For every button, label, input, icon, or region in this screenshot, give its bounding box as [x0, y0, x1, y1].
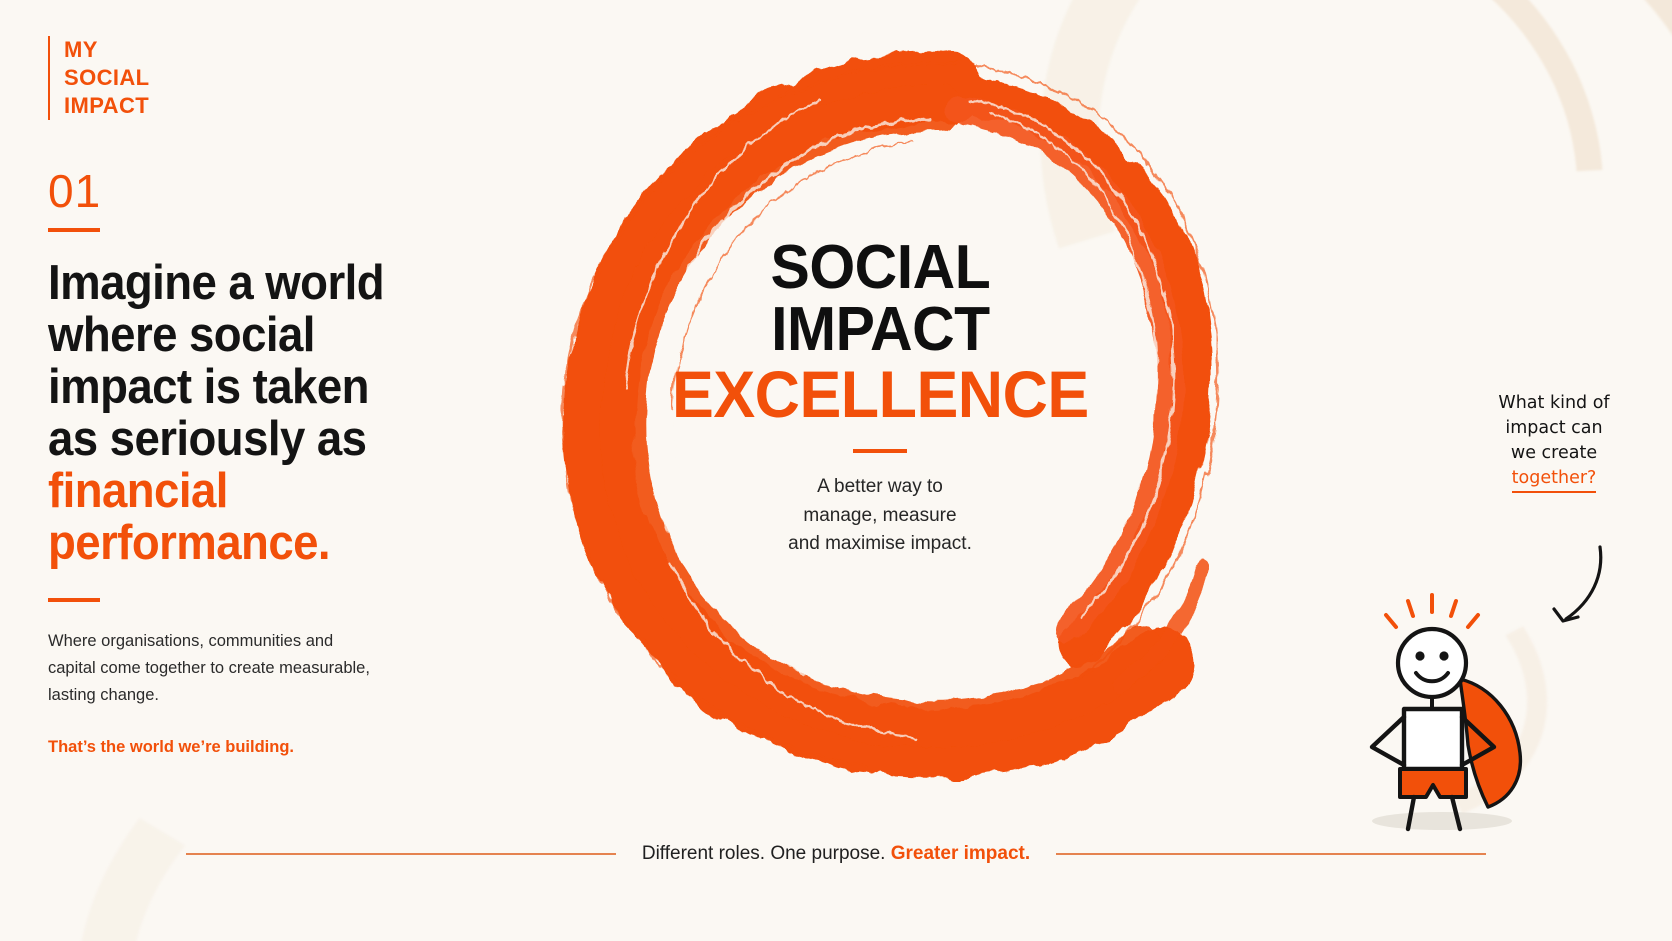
circle-subtitle-line-3: and maximise impact. [788, 530, 972, 559]
divider-under-step-number [48, 228, 100, 232]
footer-divider-right [1056, 853, 1486, 855]
superhero-stick-figure-icon [1320, 583, 1560, 833]
brush-circle-graphic: SOCIAL IMPACT EXCELLENCE A better way to… [520, 22, 1240, 782]
note-line-3: we create [1464, 441, 1644, 466]
footer-bar: Different roles. One purpose. Greater im… [0, 843, 1672, 865]
figure-torso [1404, 709, 1462, 769]
footer-tagline-plain: Different roles. One purpose. [642, 843, 886, 864]
headline-line-4: as seriously as [48, 414, 420, 466]
figure-shorts [1400, 769, 1466, 797]
divider-under-circle-title [853, 449, 907, 453]
note-accent-together: together? [1512, 466, 1597, 494]
handwritten-question-note: What kind of impact can we create togeth… [1464, 391, 1644, 493]
brand-accent-bar [48, 36, 50, 120]
left-content-column: MY SOCIAL IMPACT 01 Imagine a world wher… [48, 36, 448, 757]
body-paragraph: Where organisations, communities and cap… [48, 628, 378, 708]
step-number: 01 [48, 168, 448, 214]
footer-tagline: Different roles. One purpose. Greater im… [642, 843, 1030, 865]
brand-line-1: MY [64, 36, 150, 64]
idea-spark-lines [1386, 595, 1478, 627]
circle-subtitle-line-2: manage, measure [788, 502, 972, 531]
figure-head [1398, 629, 1466, 697]
circle-subtitle: A better way to manage, measure and maxi… [788, 473, 972, 560]
note-line-2: impact can [1464, 416, 1644, 441]
figure-arm-left [1372, 717, 1404, 765]
hero-character-block: What kind of impact can we create togeth… [1320, 503, 1650, 833]
brand-line-2: SOCIAL [64, 64, 150, 92]
headline-line-3: impact is taken [48, 362, 420, 414]
circle-subtitle-line-1: A better way to [788, 473, 972, 502]
circle-title-line-2: IMPACT [672, 299, 1089, 361]
headline-line-1: Imagine a world [48, 258, 420, 310]
circle-title: SOCIAL IMPACT EXCELLENCE [672, 237, 1089, 427]
headline-accent-line-2: performance. [48, 518, 420, 570]
figure-eye-left [1415, 651, 1424, 660]
figure-shadow [1372, 812, 1512, 830]
brand-line-3: IMPACT [64, 92, 150, 120]
brand-logo: MY SOCIAL IMPACT [48, 36, 448, 120]
circle-text-block: SOCIAL IMPACT EXCELLENCE A better way to… [520, 22, 1240, 782]
headline-accent-line-1: financial [48, 466, 420, 518]
footer-tagline-highlight: Greater impact. [891, 843, 1030, 864]
page-title: Imagine a world where social impact is t… [48, 258, 420, 570]
circle-title-line-1: SOCIAL [672, 237, 1089, 299]
note-line-1: What kind of [1464, 391, 1644, 416]
figure-eye-right [1439, 651, 1448, 660]
brand-logo-text: MY SOCIAL IMPACT [64, 36, 150, 120]
divider-under-headline [48, 598, 100, 602]
closing-statement: That’s the world we’re building. [48, 738, 448, 757]
headline-line-2: where social [48, 310, 420, 362]
circle-title-accent: EXCELLENCE [672, 361, 1089, 427]
footer-divider-left [186, 853, 616, 855]
